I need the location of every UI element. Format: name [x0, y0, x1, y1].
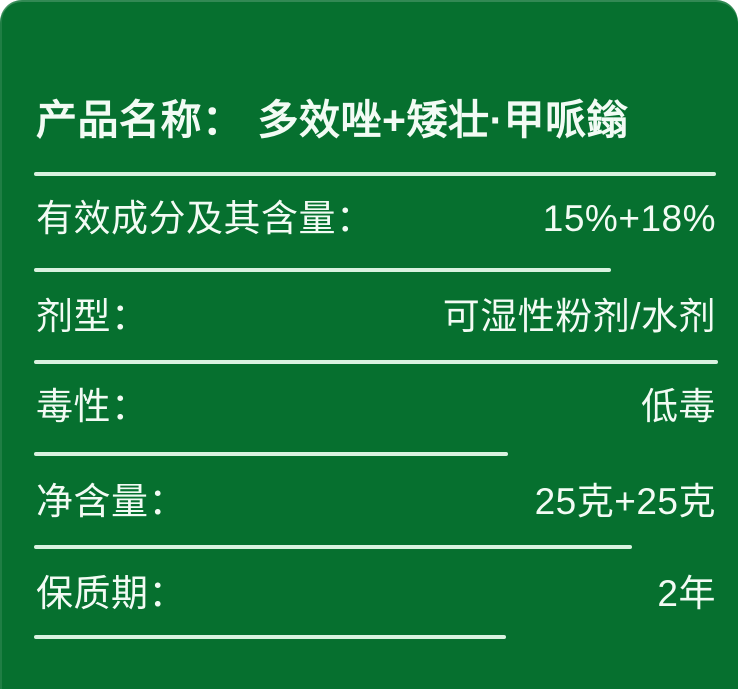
spec-value-formulation: 可湿性粉剂/水剂 [443, 298, 716, 335]
spec-value-active-ingredient: 15%+18% [543, 200, 716, 237]
spec-value-toxicity: 低毒 [641, 388, 716, 425]
spec-row-content: 保质期： 2年 [36, 575, 716, 612]
spec-value-shelf-life: 2年 [657, 575, 716, 612]
spec-label-product-name: 产品名称： [36, 100, 244, 141]
spec-row-content: 净含量： 25克+25克 [36, 483, 716, 520]
spec-value-product-name: 多效唑+矮壮·甲哌鎓 [258, 100, 629, 141]
spec-divider [34, 635, 506, 639]
spec-divider [34, 452, 508, 456]
spec-row-net-content: 净含量： 25克+25克 [0, 483, 738, 563]
spec-label-net-content: 净含量： [36, 483, 186, 520]
spec-row-active-ingredient: 有效成分及其含量： 15%+18% [0, 200, 738, 280]
spec-divider [34, 545, 632, 549]
spec-label-formulation: 剂型： [36, 298, 149, 335]
spec-row-product-name: 产品名称： 多效唑+矮壮·甲哌鎓 [0, 100, 738, 180]
spec-label-active-ingredient: 有效成分及其含量： [36, 200, 374, 237]
spec-label-shelf-life: 保质期： [36, 575, 186, 612]
spec-row-formulation: 剂型： 可湿性粉剂/水剂 [0, 298, 738, 378]
spec-value-net-content: 25克+25克 [535, 483, 716, 520]
spec-row-shelf-life: 保质期： 2年 [0, 575, 738, 655]
spec-row-content: 毒性： 低毒 [36, 388, 716, 425]
spec-row-content: 有效成分及其含量： 15%+18% [36, 200, 716, 237]
product-spec-panel: 产品名称： 多效唑+矮壮·甲哌鎓 有效成分及其含量： 15%+18% 剂型： 可… [0, 0, 738, 689]
spec-label-toxicity: 毒性： [36, 388, 149, 425]
spec-divider [34, 268, 611, 272]
spec-divider [34, 172, 716, 176]
spec-row-content: 产品名称： 多效唑+矮壮·甲哌鎓 [36, 100, 716, 141]
spec-row-content: 剂型： 可湿性粉剂/水剂 [36, 298, 716, 335]
spec-divider [34, 360, 718, 364]
spec-row-toxicity: 毒性： 低毒 [0, 388, 738, 468]
